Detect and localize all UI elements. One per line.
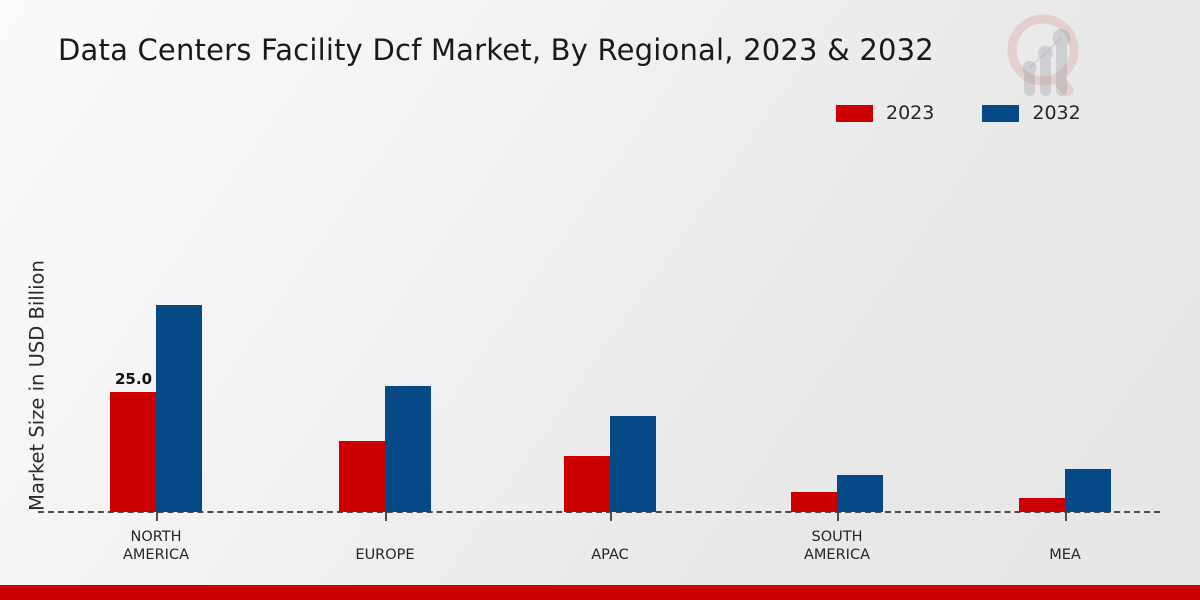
bar-value-label: 25.0 bbox=[115, 370, 152, 388]
x-axis-tick bbox=[385, 512, 387, 521]
x-axis-tick bbox=[1065, 512, 1067, 521]
bar-2032[interactable] bbox=[156, 305, 202, 512]
bar-2023[interactable] bbox=[110, 392, 156, 512]
bar-2032[interactable] bbox=[1065, 469, 1111, 512]
bar-2023[interactable] bbox=[1019, 498, 1065, 512]
x-axis-label-apac: APAC bbox=[510, 546, 710, 564]
x-axis-label-south-america: SOUTH AMERICA bbox=[737, 528, 937, 564]
chart-container: Data Centers Facility Dcf Market, By Reg… bbox=[0, 0, 1200, 600]
bar-2032[interactable] bbox=[610, 416, 656, 512]
bar-pair bbox=[791, 475, 883, 512]
x-axis-tick bbox=[837, 512, 839, 521]
x-axis-tick bbox=[156, 512, 158, 521]
x-axis-label-europe: EUROPE bbox=[285, 546, 485, 564]
plot-area: 25.0 NORTH AMERICA EUROPE APAC bbox=[0, 0, 1200, 600]
bar-pair bbox=[110, 305, 202, 512]
bar-2023[interactable] bbox=[564, 456, 610, 512]
footer-accent-bar bbox=[0, 585, 1200, 600]
bar-pair bbox=[339, 386, 431, 512]
x-axis-label-mea: MEA bbox=[965, 546, 1165, 564]
bar-pair bbox=[564, 416, 656, 512]
x-axis-label-north-america: NORTH AMERICA bbox=[56, 528, 256, 564]
bar-2032[interactable] bbox=[385, 386, 431, 512]
bar-pair bbox=[1019, 469, 1111, 512]
bar-2023[interactable] bbox=[339, 441, 385, 512]
x-axis-tick bbox=[610, 512, 612, 521]
bar-2023[interactable] bbox=[791, 492, 837, 512]
bar-2032[interactable] bbox=[837, 475, 883, 512]
